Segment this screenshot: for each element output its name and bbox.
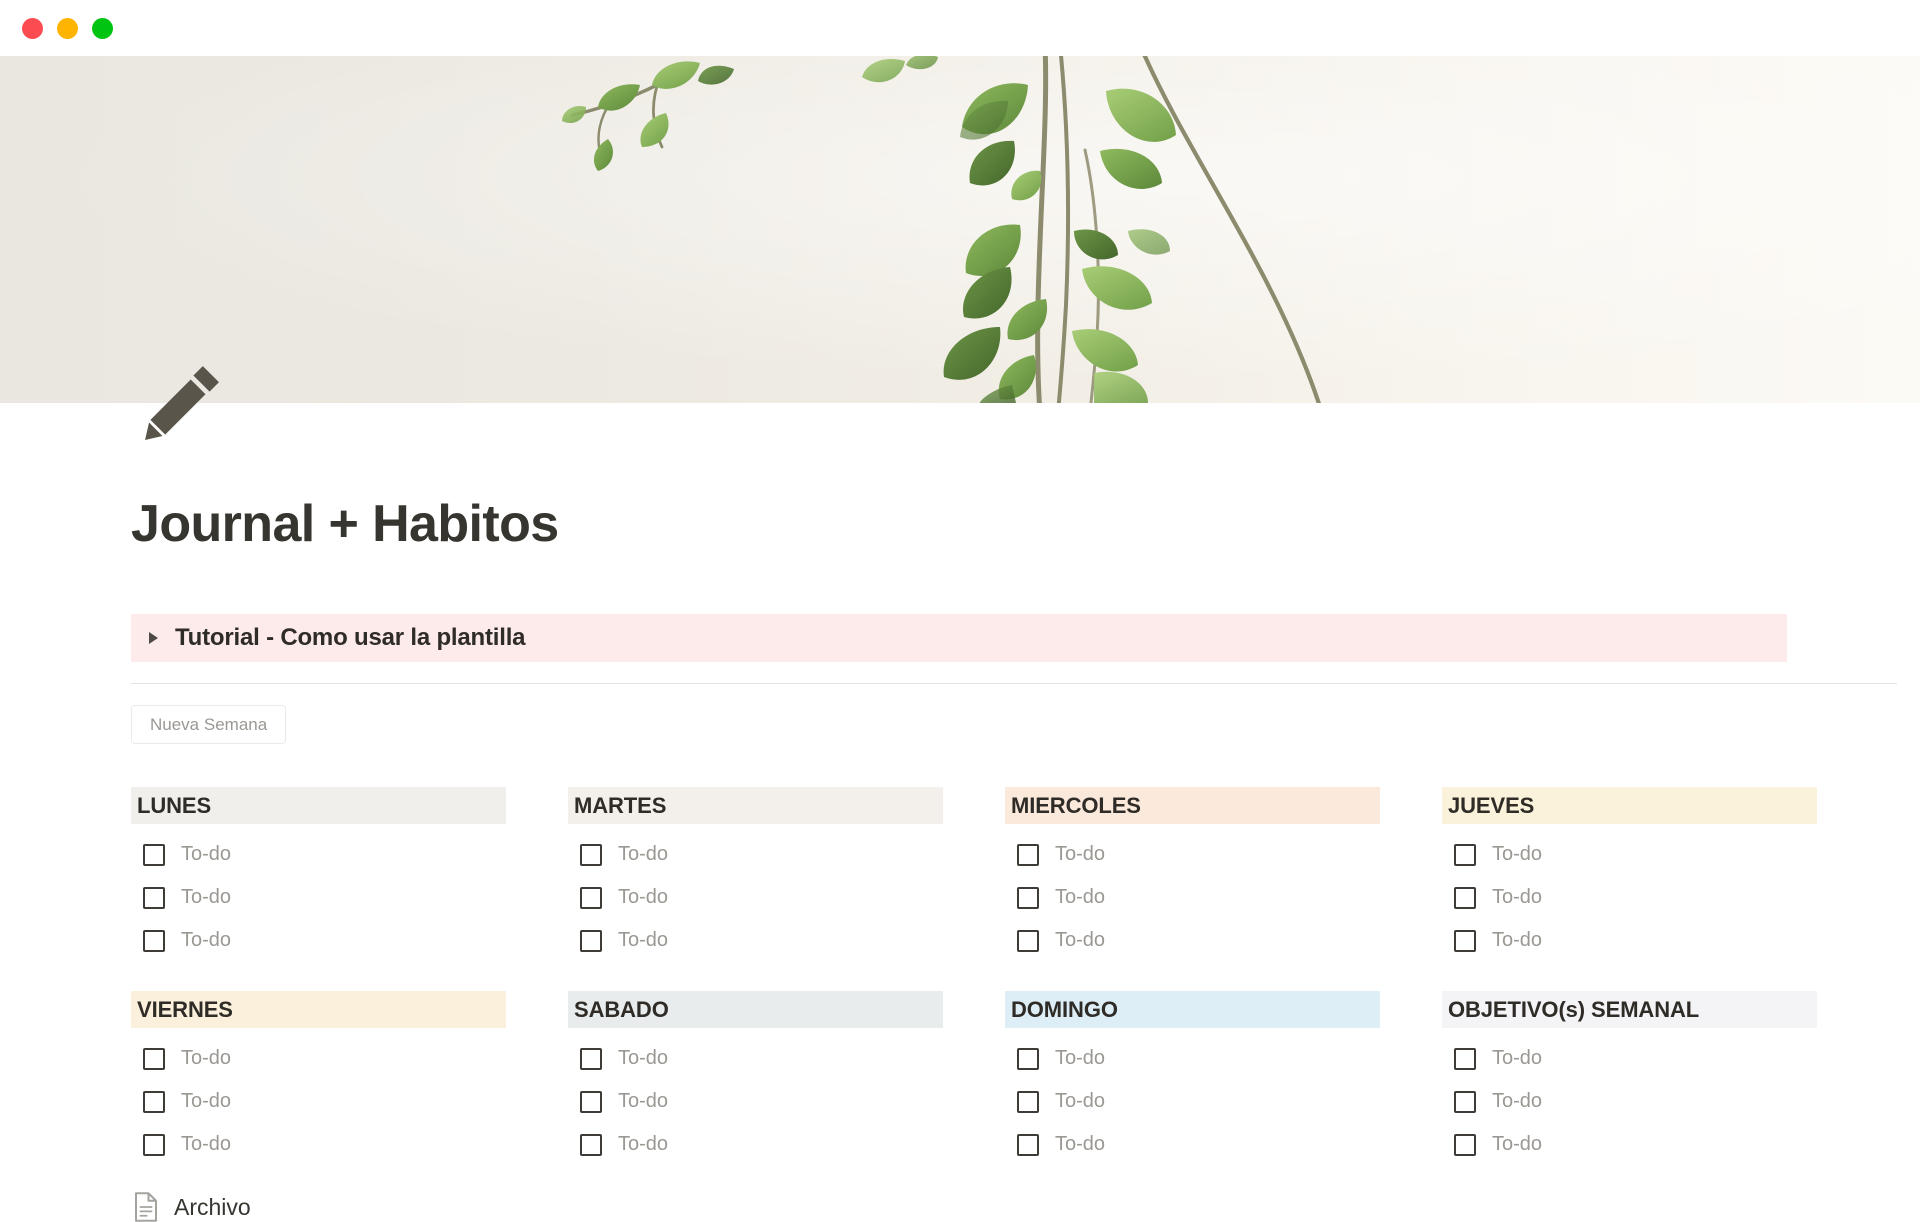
day-column-objetivo-semanal: OBJETIVO(s) SEMANAL To-do To-do To-do [1442,991,1817,1166]
todo-item[interactable]: To-do [568,833,943,876]
tutorial-toggle-label: Tutorial - Como usar la plantilla [175,624,525,652]
todo-label: To-do [618,929,668,952]
day-header-lunes: LUNES [131,787,506,824]
todo-item[interactable]: To-do [568,1123,943,1166]
day-column-miercoles: MIERCOLES To-do To-do To-do [1005,787,1380,962]
todo-item[interactable]: To-do [568,1037,943,1080]
todo-label: To-do [618,886,668,909]
todo-label: To-do [1055,843,1105,866]
todo-item[interactable]: To-do [1005,876,1380,919]
todo-label: To-do [618,843,668,866]
todo-label: To-do [181,886,231,909]
chevron-right-icon[interactable] [149,632,158,644]
todo-label: To-do [181,929,231,952]
todo-label: To-do [1492,1047,1542,1070]
todo-label: To-do [181,1090,231,1113]
todo-item[interactable]: To-do [131,1037,506,1080]
todo-label: To-do [1492,929,1542,952]
todo-checkbox[interactable] [1454,1091,1476,1113]
todo-checkbox[interactable] [143,1091,165,1113]
todo-checkbox[interactable] [1454,930,1476,952]
day-column-martes: MARTES To-do To-do To-do [568,787,943,962]
todo-label: To-do [1492,1090,1542,1113]
page-title: Journal + Habitos [131,496,1920,553]
minimize-window-button[interactable] [57,18,78,39]
todo-item[interactable]: To-do [568,919,943,962]
todo-checkbox[interactable] [1017,887,1039,909]
day-column-domingo: DOMINGO To-do To-do To-do [1005,991,1380,1166]
todo-item[interactable]: To-do [1005,1037,1380,1080]
todo-item[interactable]: To-do [1005,919,1380,962]
todo-label: To-do [618,1090,668,1113]
todo-list-viernes: To-do To-do To-do [131,1037,506,1166]
todo-item[interactable]: To-do [1442,876,1817,919]
todo-checkbox[interactable] [1454,1134,1476,1156]
todo-label: To-do [1055,886,1105,909]
todo-item[interactable]: To-do [131,1123,506,1166]
todo-item[interactable]: To-do [1442,1037,1817,1080]
todo-checkbox[interactable] [143,930,165,952]
todo-label: To-do [181,1047,231,1070]
todo-checkbox[interactable] [143,1134,165,1156]
todo-label: To-do [1055,1133,1105,1156]
todo-checkbox[interactable] [580,844,602,866]
todo-checkbox[interactable] [580,887,602,909]
todo-label: To-do [1055,1090,1105,1113]
archivo-label: Archivo [174,1194,251,1221]
todo-checkbox[interactable] [1017,930,1039,952]
maximize-window-button[interactable] [92,18,113,39]
page-cover-image[interactable] [0,55,1920,403]
todo-label: To-do [181,843,231,866]
todo-checkbox[interactable] [580,1134,602,1156]
day-column-jueves: JUEVES To-do To-do To-do [1442,787,1817,962]
day-header-miercoles: MIERCOLES [1005,787,1380,824]
new-week-button[interactable]: Nueva Semana [131,705,286,744]
todo-label: To-do [1492,886,1542,909]
day-header-domingo: DOMINGO [1005,991,1380,1028]
day-column-lunes: LUNES To-do To-do To-do [131,787,506,962]
tutorial-toggle-callout[interactable]: Tutorial - Como usar la plantilla [131,614,1787,662]
todo-label: To-do [181,1133,231,1156]
todo-item[interactable]: To-do [1442,919,1817,962]
todo-checkbox[interactable] [1017,1091,1039,1113]
todo-checkbox[interactable] [1454,844,1476,866]
todo-label: To-do [1055,1047,1105,1070]
window-titlebar [0,0,1920,56]
button-row: Nueva Semana [131,705,1920,744]
todo-checkbox[interactable] [580,1048,602,1070]
todo-item[interactable]: To-do [1442,1080,1817,1123]
todo-label: To-do [618,1047,668,1070]
day-header-jueves: JUEVES [1442,787,1817,824]
todo-label: To-do [1492,843,1542,866]
cover-illustration [0,55,1920,403]
todo-item[interactable]: To-do [1005,1123,1380,1166]
todo-checkbox[interactable] [1017,1134,1039,1156]
todo-checkbox[interactable] [143,1048,165,1070]
todo-checkbox[interactable] [1017,844,1039,866]
todo-label: To-do [1055,929,1105,952]
todo-list-domingo: To-do To-do To-do [1005,1037,1380,1166]
archivo-page-link[interactable]: Archivo [131,1192,1920,1222]
todo-item[interactable]: To-do [131,919,506,962]
day-header-martes: MARTES [568,787,943,824]
todo-item[interactable]: To-do [1442,833,1817,876]
todo-list-sabado: To-do To-do To-do [568,1037,943,1166]
todo-list-martes: To-do To-do To-do [568,833,943,962]
day-header-objetivo-semanal: OBJETIVO(s) SEMANAL [1442,991,1817,1028]
todo-checkbox[interactable] [143,887,165,909]
todo-item[interactable]: To-do [1005,833,1380,876]
day-column-sabado: SABADO To-do To-do To-do [568,991,943,1166]
todo-checkbox[interactable] [1454,1048,1476,1070]
todo-label: To-do [618,1133,668,1156]
todo-item[interactable]: To-do [1005,1080,1380,1123]
todo-list-objetivo-semanal: To-do To-do To-do [1442,1037,1817,1166]
pencil-icon [141,358,227,444]
todo-checkbox[interactable] [143,844,165,866]
file-icon [133,1192,159,1222]
todo-item[interactable]: To-do [131,1080,506,1123]
todo-list-miercoles: To-do To-do To-do [1005,833,1380,962]
close-window-button[interactable] [22,18,43,39]
todo-checkbox[interactable] [580,930,602,952]
todo-checkbox[interactable] [580,1091,602,1113]
todo-item[interactable]: To-do [568,1080,943,1123]
page-pencil-icon[interactable] [141,358,227,444]
todo-item[interactable]: To-do [1442,1123,1817,1166]
todo-item[interactable]: To-do [131,876,506,919]
todo-checkbox[interactable] [1017,1048,1039,1070]
todo-item[interactable]: To-do [131,833,506,876]
day-header-sabado: SABADO [568,991,943,1028]
todo-checkbox[interactable] [1454,887,1476,909]
weekly-day-grid: LUNES To-do To-do To-do MARTES [131,787,1781,1166]
content-divider [131,683,1897,684]
page-content: Journal + Habitos Tutorial - Como usar l… [0,403,1920,1222]
day-header-viernes: VIERNES [131,991,506,1028]
todo-list-jueves: To-do To-do To-do [1442,833,1817,962]
todo-list-lunes: To-do To-do To-do [131,833,506,962]
todo-item[interactable]: To-do [568,876,943,919]
day-column-viernes: VIERNES To-do To-do To-do [131,991,506,1166]
todo-label: To-do [1492,1133,1542,1156]
